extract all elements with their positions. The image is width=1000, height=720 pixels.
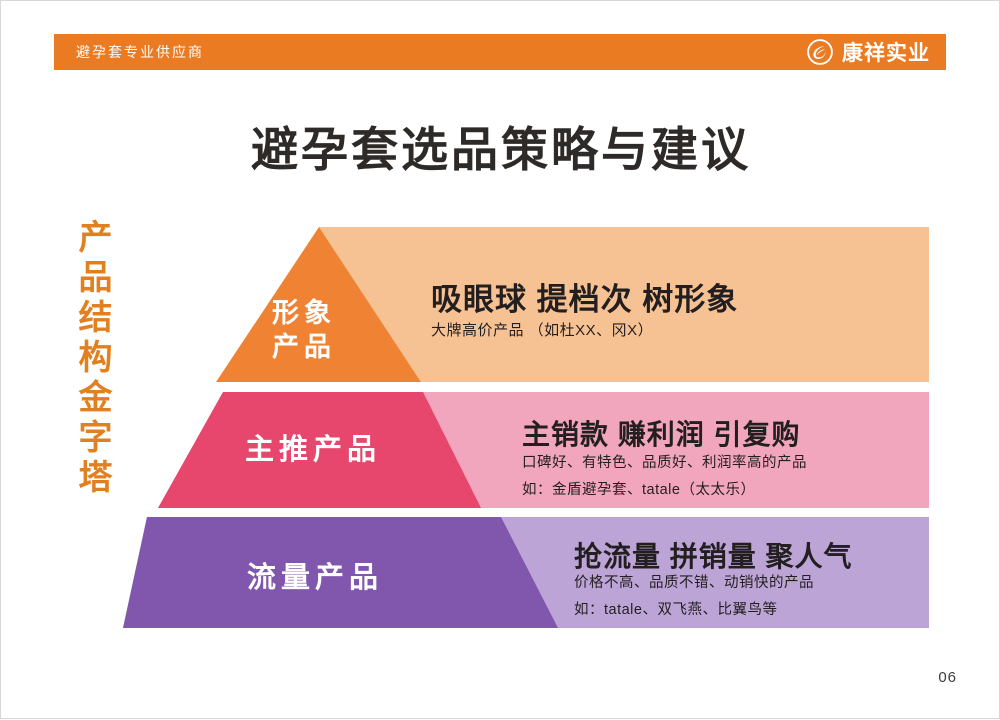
pyramid-tier-3-detail-1: 价格不高、品质不错、动销快的产品 xyxy=(574,571,814,592)
page-number: 06 xyxy=(938,669,957,686)
page-title: 避孕套选品策略与建议 xyxy=(1,111,1000,180)
pyramid-tier-2-label: 主推产品 xyxy=(245,426,381,468)
pyramid-tier-2-headline: 主销款 赚利润 引复购 xyxy=(522,413,801,453)
pyramid-tier-1-label-line2: 产品 xyxy=(272,331,336,365)
header-bar: 避孕套专业供应商 康祥实业 xyxy=(54,34,946,70)
pyramid-tier-2-detail-2: 如：金盾避孕套、tatale（太太乐） xyxy=(522,478,755,499)
pyramid-tier-3-detail-2: 如：tatale、双飞燕、比翼鸟等 xyxy=(574,598,777,619)
leaf-circle-logo-icon xyxy=(807,39,833,65)
pyramid-tier-1-headline: 吸眼球 提档次 树形象 xyxy=(431,274,738,319)
pyramid-tier-1-detail-1: 大牌高价产品 （如杜XX、冈X） xyxy=(431,319,653,340)
slide-canvas: 避孕套专业供应商 康祥实业 避孕套选品策略与建议 产品结构金字塔 形象 产品 xyxy=(0,0,1000,719)
pyramid-tier-2-detail-1: 口碑好、有特色、品质好、利润率高的产品 xyxy=(522,451,807,472)
pyramid-diagram xyxy=(1,1,1000,720)
brand-logo: 康祥实业 xyxy=(807,37,930,67)
pyramid-axis-label: 产品结构金字塔 xyxy=(63,219,109,499)
brand-name: 康祥实业 xyxy=(842,37,930,67)
pyramid-tier-3-headline: 抢流量 拼销量 聚人气 xyxy=(574,535,853,575)
pyramid-tier-3-label: 流量产品 xyxy=(247,554,383,596)
pyramid-tier-1-label-line1: 形象 xyxy=(272,297,336,331)
pyramid-tier-1-label: 形象 产品 xyxy=(272,297,336,365)
header-tagline: 避孕套专业供应商 xyxy=(76,42,204,62)
